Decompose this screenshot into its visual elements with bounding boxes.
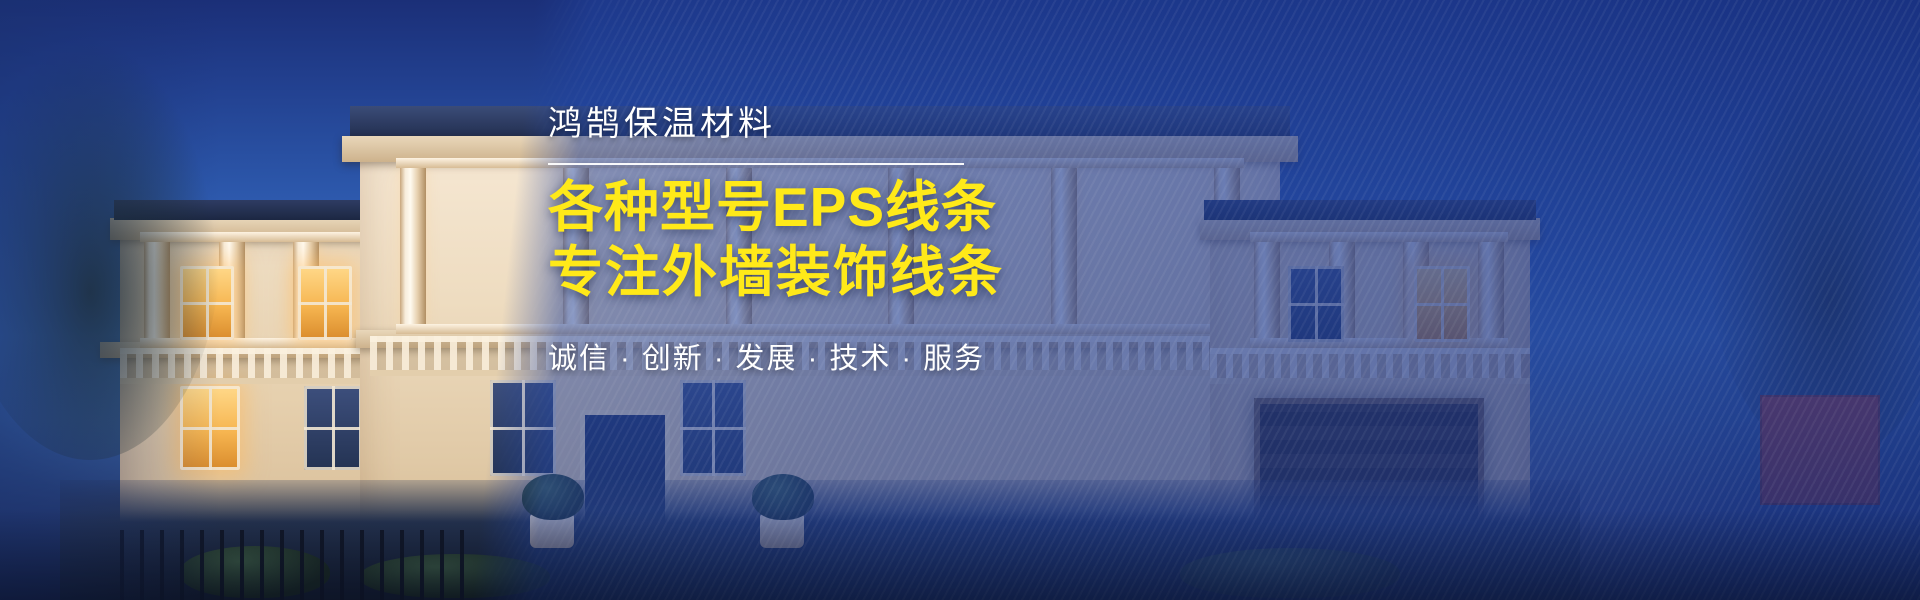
window-dark (490, 380, 556, 476)
window-dark (680, 380, 746, 476)
column (1051, 166, 1077, 326)
column (400, 166, 426, 326)
shrub (752, 474, 814, 520)
divider-rule (548, 163, 964, 165)
iron-fence (120, 530, 480, 600)
headline: 各种型号EPS线条 专注外墙装饰线条 (548, 175, 1018, 305)
tagline: 诚信 · 创新 · 发展 · 技术 · 服务 (548, 335, 1018, 377)
right-wing-roof (1204, 200, 1536, 220)
banner-copy: 鸿鹄保温材料 各种型号EPS线条 专注外墙装饰线条 诚信 · 创新 · 发展 ·… (548, 96, 1018, 377)
column (1254, 240, 1280, 340)
window-dark (304, 386, 362, 470)
brand-name: 鸿鹄保温材料 (548, 96, 1018, 145)
headline-line-1: 各种型号EPS线条 (548, 175, 1018, 240)
hero-banner: 鸿鹄保温材料 各种型号EPS线条 专注外墙装饰线条 诚信 · 创新 · 发展 ·… (0, 0, 1920, 600)
shrub (1180, 548, 1400, 598)
window-lit (180, 386, 240, 470)
headline-line-2: 专注外墙装饰线条 (548, 240, 1018, 305)
red-structure (1760, 395, 1880, 505)
balustrade (1210, 348, 1530, 384)
shrub (522, 474, 584, 520)
window-dark (1288, 266, 1344, 342)
column (1478, 240, 1504, 340)
window-lit (298, 266, 352, 340)
window-lit (1414, 266, 1470, 342)
